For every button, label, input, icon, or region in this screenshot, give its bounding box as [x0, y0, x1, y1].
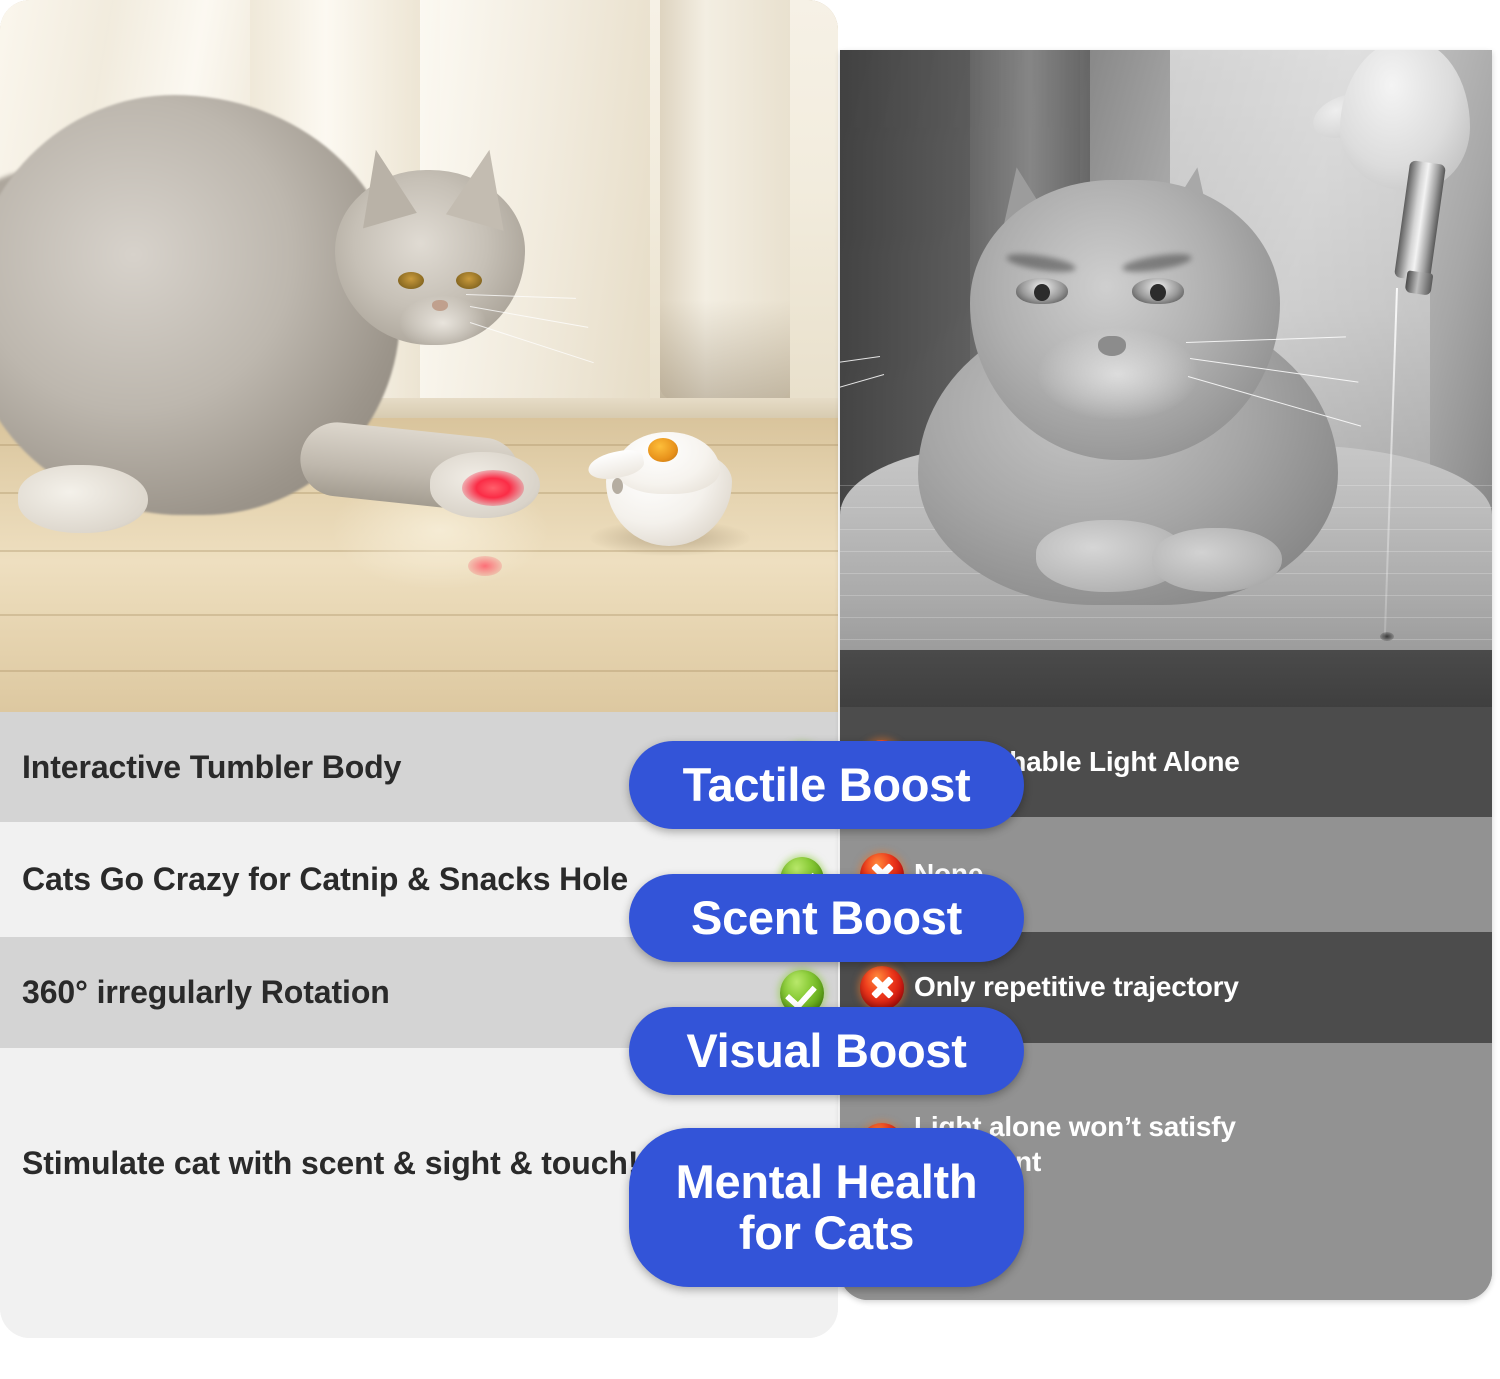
benefit-pill-label-line-2: for Cats — [676, 1208, 978, 1259]
laser-dot — [462, 470, 524, 506]
cat-chasing-tumbler-toy-photo — [0, 0, 838, 712]
benefit-pill-tactile[interactable]: Tactile Boost — [629, 741, 1024, 829]
cat-nose — [1098, 336, 1126, 356]
benefit-pill-label: Visual Boost — [672, 1026, 980, 1077]
cat-pupil — [1034, 284, 1050, 301]
cat-paw — [1152, 528, 1282, 592]
competitor-panel: Untouchable Light Alone None Only repeti… — [840, 50, 1492, 1300]
x-icon — [860, 966, 904, 1010]
human-hand — [1340, 50, 1470, 190]
cat-eye — [456, 272, 482, 289]
benefit-pill-label: Scent Boost — [677, 893, 976, 944]
benefit-pill-label: Tactile Boost — [669, 760, 985, 811]
cat-eye — [398, 272, 424, 289]
laser-pointer-tip — [1405, 270, 1434, 295]
competitor-feature-label: Only repetitive trajectory — [914, 970, 1245, 1004]
cat-paw — [18, 465, 148, 533]
benefit-pill-scent[interactable]: Scent Boost — [629, 874, 1024, 962]
benefit-pill-label: Mental Healthfor Cats — [662, 1157, 992, 1259]
cat-nose — [432, 300, 448, 311]
benefit-pill-visual[interactable]: Visual Boost — [629, 1007, 1024, 1095]
photo-bottom-band — [840, 650, 1492, 707]
tumbler-toy-laser-lens — [648, 438, 678, 462]
cat-tree-shadow — [660, 300, 790, 405]
laser-dot-reflection — [468, 556, 502, 576]
cat-with-laser-pointer-photo — [840, 50, 1492, 707]
benefit-pill-mental-health[interactable]: Mental Healthfor Cats — [629, 1128, 1024, 1287]
cat-pupil — [1150, 284, 1166, 301]
tumbler-toy-snack-hole — [612, 478, 623, 494]
laser-dot — [1380, 632, 1394, 641]
benefit-pill-label-line-1: Mental Health — [676, 1157, 978, 1208]
